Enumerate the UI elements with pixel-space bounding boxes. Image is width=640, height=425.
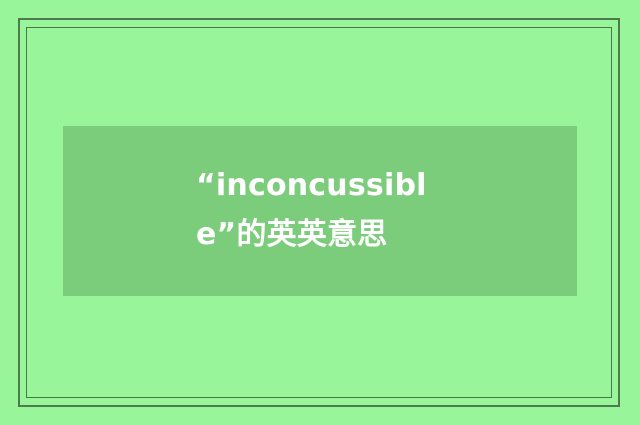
banner-title: “inconcussible”的英英意思 [196, 162, 456, 259]
banner-card: “inconcussible”的英英意思 [63, 126, 577, 296]
page-canvas: “inconcussible”的英英意思 [0, 0, 640, 425]
